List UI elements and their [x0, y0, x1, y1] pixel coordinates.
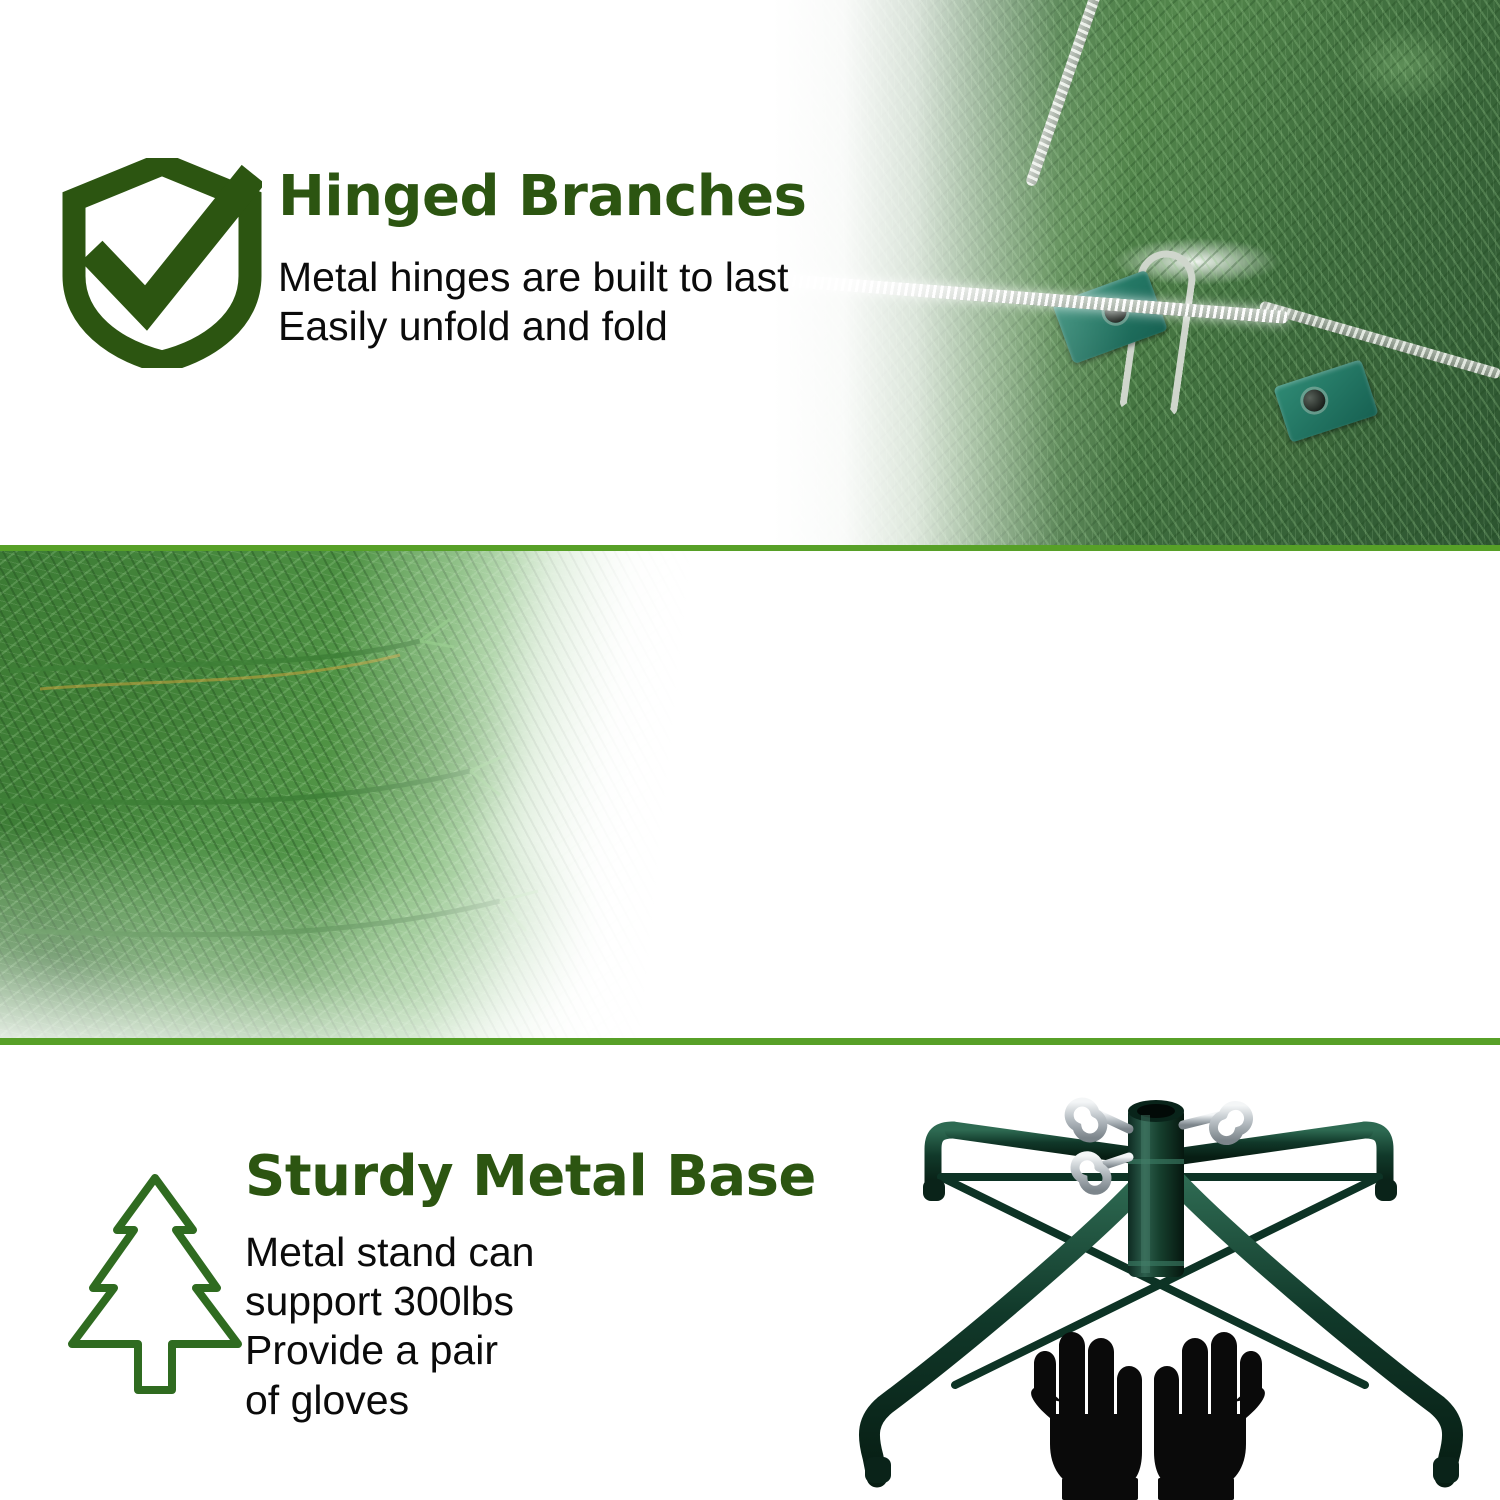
panel-body-hinged-branches: Metal hinges are built to last Easily un… — [278, 253, 789, 351]
photo-white-fade-vertical — [0, 551, 740, 1038]
photo-white-fade-gradient — [700, 0, 1500, 545]
black-gloves-pair-photo — [1018, 1318, 1278, 1500]
panel-hinged-branches: Hinged Branches Metal hinges are built t… — [0, 0, 1500, 545]
christmas-tree-outline-icon — [60, 1168, 250, 1408]
panel-heading-hinged-branches: Hinged Branches — [278, 168, 806, 225]
panel-environmental-safe-material: Environmental Safe Material Non-flammabl… — [0, 551, 1500, 1038]
infographic-page: Hinged Branches Metal hinges are built t… — [0, 0, 1500, 1500]
shield-check-icon — [62, 158, 262, 368]
pine-tree-foliage-photo — [0, 551, 740, 1038]
panel-divider-2 — [0, 1038, 1500, 1045]
panel-body-sturdy-metal-base: Metal stand can support 300lbs Provide a… — [245, 1228, 534, 1425]
panel-heading-sturdy-metal-base: Sturdy Metal Base — [245, 1148, 816, 1205]
tree-branch-hinge-closeup-photo — [700, 0, 1500, 545]
